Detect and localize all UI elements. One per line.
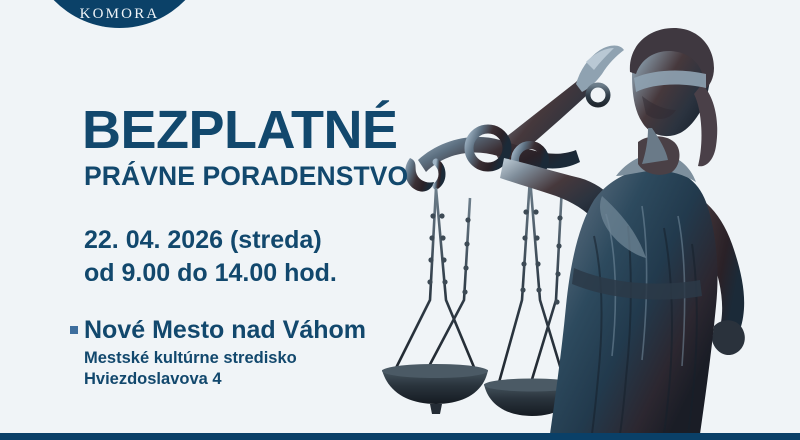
event-venue: Nové Mesto nad Váhom Mestské kultúrne st… [84, 315, 452, 391]
page-title: BEZPLATNÉ [82, 104, 452, 157]
venue-city: Nové Mesto nad Váhom [84, 315, 452, 345]
venue-street: Hviezdoslavova 4 [84, 369, 452, 390]
logo-text: KOMORA [25, 7, 214, 22]
event-hours: od 9.00 do 14.00 hod. [84, 257, 452, 290]
poster-canvas: KOMORA BEZPLATNÉ PRÁVNE PORADENSTVO 22. … [0, 0, 800, 440]
komora-logo-badge: KOMORA [25, 0, 214, 28]
page-subtitle: PRÁVNE PORADENSTVO [84, 163, 452, 191]
event-datetime: 22. 04. 2026 (streda) od 9.00 do 14.00 h… [84, 224, 452, 290]
event-date: 22. 04. 2026 (streda) [84, 224, 452, 257]
bullet-square-icon [70, 326, 78, 334]
footer-bar [0, 433, 800, 440]
poster-content: BEZPLATNÉ PRÁVNE PORADENSTVO 22. 04. 202… [82, 104, 452, 391]
venue-place: Mestské kultúrne stredisko [84, 348, 452, 369]
